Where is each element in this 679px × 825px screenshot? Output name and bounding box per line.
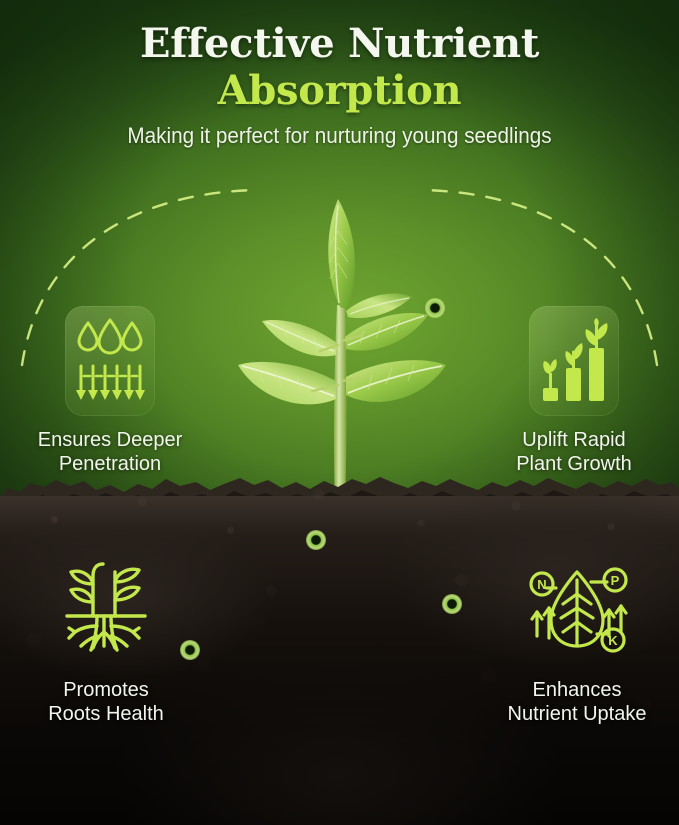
feature-icon-wrap: N P K [517,556,637,666]
npk-badge-k: K [608,633,618,648]
npk-badge-n: N [537,577,546,592]
feature-promotes-roots-health: Promotes Roots Health [8,556,204,726]
feature-icon-card [65,306,155,416]
growth-bar-chart-leaves-icon [537,318,611,404]
npk-leaf-uptake-icon: N P K [521,558,633,664]
nutrient-marker-dot [442,594,462,614]
page-title-accent: Absorption [0,68,679,114]
infographic-poster: Effective Nutrient Absorption Making it … [0,0,679,825]
feature-label: Promotes Roots Health [8,678,204,726]
feature-label: Uplift Rapid Plant Growth [480,428,668,476]
header-block: Effective Nutrient Absorption Making it … [0,0,679,150]
feature-label: Ensures Deeper Penetration [16,428,204,476]
npk-badge-p: P [611,573,620,588]
feature-uplift-rapid-plant-growth: Uplift Rapid Plant Growth [480,306,668,476]
page-title-line1: Effective Nutrient [0,22,679,66]
feature-icon-card [529,306,619,416]
feature-ensures-deeper-penetration: Ensures Deeper Penetration [16,306,204,476]
water-droplets-down-arrows-icon [74,318,146,404]
page-subtitle: Making it perfect for nurturing young se… [20,122,658,150]
nutrient-marker-dot [180,640,200,660]
seedling-illustration [180,185,500,515]
feature-icon-wrap [46,556,166,666]
nutrient-marker-dot [306,530,326,550]
feature-enhances-nutrient-uptake: N P K Enhances Nutrient Uptake [478,556,676,726]
feature-label: Enhances Nutrient Uptake [478,678,676,726]
nutrient-marker-dot [425,298,445,318]
plant-with-roots-icon [53,558,159,664]
